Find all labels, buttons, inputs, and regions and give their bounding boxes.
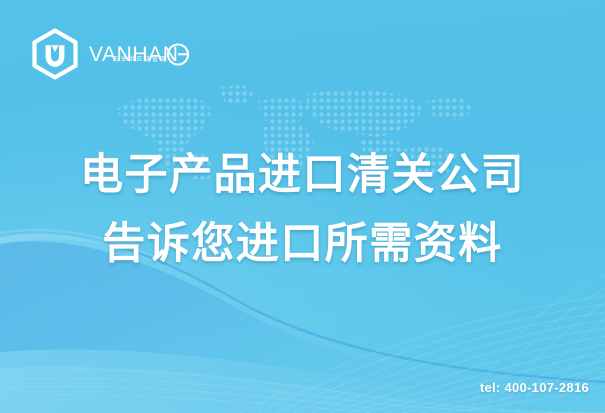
headline-line-1: 电子产品进口清关公司 xyxy=(0,148,605,203)
contact-phone[interactable]: tel: 400-107-2816 xyxy=(480,380,589,395)
hexagon-v-logo-icon xyxy=(30,28,80,80)
logo-text-block: VANHAN 万享供应链管理 xyxy=(89,34,189,74)
brand-logo[interactable]: VANHAN 万享供应链管理 xyxy=(30,28,189,80)
headline-line-2: 告诉您进口所需资料 xyxy=(0,217,605,272)
logo-subtitle: 万享供应链管理 xyxy=(113,54,168,63)
headline-block: 电子产品进口清关公司 告诉您进口所需资料 xyxy=(0,148,605,272)
poster-banner: VANHAN 万享供应链管理 电子产品进口清关公司 告诉您进口所需资料 tel:… xyxy=(0,0,605,413)
